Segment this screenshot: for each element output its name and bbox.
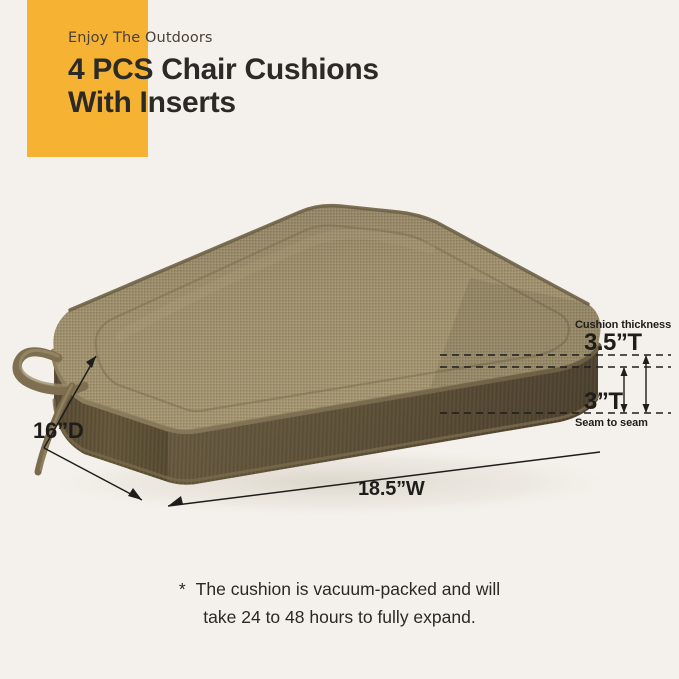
total-thickness-arrow-up [643, 355, 650, 364]
eyebrow-text: Enjoy The Outdoors [68, 30, 628, 47]
headline-line-2: With Inserts [68, 86, 628, 119]
total-thickness-label: 3.5”T [584, 329, 642, 357]
headline-line-1: 4 PCS Chair Cushions [68, 53, 628, 86]
seam-thickness-label: 3”T [584, 388, 623, 416]
seam-thickness-arrow-up [621, 367, 628, 376]
product-illustration [0, 186, 679, 526]
infographic-canvas: Enjoy The Outdoors 4 PCS Chair Cushions … [0, 0, 679, 679]
header-text-group: Enjoy The Outdoors 4 PCS Chair Cushions … [68, 30, 628, 119]
cushion-svg [0, 186, 679, 526]
footer-asterisk: * [179, 579, 186, 599]
depth-dimension-label: 16”D [33, 418, 84, 444]
footer-line-1: *The cushion is vacuum-packed and will [0, 575, 679, 603]
total-thickness-arrow-down [643, 404, 650, 413]
width-dimension-label: 18.5”W [358, 478, 425, 501]
footer-line-2: take 24 to 48 hours to fully expand. [0, 603, 679, 631]
footer-note: *The cushion is vacuum-packed and will t… [0, 575, 679, 631]
seam-to-seam-caption: Seam to seam [575, 417, 648, 429]
footer-text-1: The cushion is vacuum-packed and will [196, 579, 500, 599]
